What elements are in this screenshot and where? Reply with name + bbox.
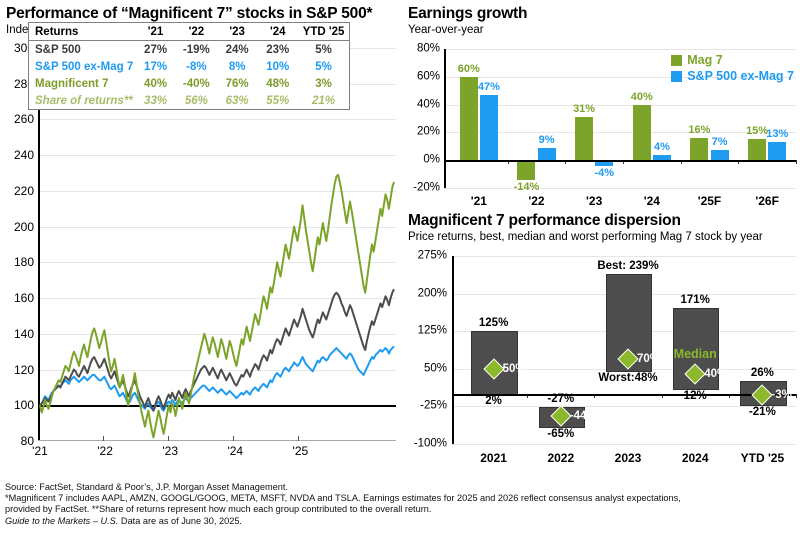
y-axis-tick-label: 140 [14, 328, 34, 340]
earnings-growth-chart: Mag 7S&P 500 ex-Mag 7 -20%0%20%40%60%80%… [444, 49, 796, 188]
line-series-mag7 [40, 175, 394, 438]
bar-value-label: 60% [458, 64, 480, 75]
table-row: Share of returns**33%56%63%55%21% [29, 92, 349, 109]
dispersion-panel: Magnificent 7 performance dispersion Pri… [408, 212, 798, 477]
row-label: S&P 500 [29, 41, 135, 59]
y-axis-tick-label: 260 [14, 113, 34, 125]
gridline [444, 49, 796, 50]
row-label: Share of returns** [29, 92, 135, 109]
x-axis-tick-label: 2022 [547, 452, 574, 464]
footnote-guide: Guide to the Markets – U.S. Data are as … [5, 516, 795, 527]
bar-sp500-ex-mag7 [480, 95, 498, 160]
bar-mag7 [690, 138, 708, 160]
median-value-label: -44% [570, 410, 597, 422]
best-value-label: Best: 239% [597, 260, 658, 272]
y-axis-tick-label: 220 [14, 185, 34, 197]
th-21: '21 [135, 23, 176, 41]
y-axis-tick-label: 240 [14, 149, 34, 161]
y-axis-tick-label: 50% [424, 363, 447, 375]
worst-value-label: -21% [749, 406, 776, 418]
returns-table: Returns '21 '22 '23 '24 YTD '25 S&P 5002… [28, 22, 350, 110]
cell-value: 40% [135, 75, 176, 92]
gridline [452, 444, 796, 445]
y-axis-tick-label: 40% [417, 99, 440, 111]
bar-mag7 [575, 117, 593, 160]
median-value-label: 70% [637, 353, 660, 365]
gridline [444, 188, 796, 189]
x-axis-tick-label: 2023 [615, 452, 642, 464]
x-axis-tick-label: 2021 [480, 452, 507, 464]
x-axis-tick-label: '23 [162, 445, 178, 457]
bar-value-label: -14% [514, 182, 540, 193]
bar-sp500-ex-mag7 [768, 142, 786, 160]
y-axis-tick-label: 100 [14, 399, 34, 411]
x-axis-tick-label: '21 [471, 195, 487, 207]
x-axis-tick-label: '23 [586, 195, 602, 207]
median-value-label: 50% [503, 363, 526, 375]
x-axis-tick-label: '22 [97, 445, 113, 457]
y-axis-tick-label: 0% [423, 154, 440, 166]
earnings-growth-legend: Mag 7S&P 500 ex-Mag 7 [671, 53, 794, 85]
y-axis-tick-label: 60% [417, 71, 440, 83]
returns-table-grid: Returns '21 '22 '23 '24 YTD '25 S&P 5002… [29, 23, 349, 109]
x-axis-tick-label: '24 [227, 445, 243, 457]
y-axis-tick-label: -25% [420, 401, 447, 413]
bar-sp500-ex-mag7 [538, 148, 556, 161]
worst-value-label: 2% [485, 395, 502, 407]
x-axis-tick-label: '24 [644, 195, 660, 207]
x-axis-tick-label: '26F [755, 195, 779, 207]
legend-item: Mag 7 [671, 53, 794, 67]
y-axis-tick-label: -100% [414, 438, 447, 450]
bar-mag7 [460, 77, 478, 160]
earnings-growth-subtitle: Year-over-year [408, 24, 484, 37]
earnings-growth-panel: Earnings growth Year-over-year Mag 7S&P … [408, 5, 798, 205]
x-axis-tick-label: 2024 [682, 452, 709, 464]
y-axis-tick-label: 180 [14, 256, 34, 268]
th-returns: Returns [29, 23, 135, 41]
y-axis-tick-label: -20% [413, 182, 440, 194]
cell-value: 24% [217, 41, 258, 59]
cell-value: 63% [217, 92, 258, 109]
bar-mag7 [633, 105, 651, 161]
legend-swatch-icon [671, 71, 682, 82]
cell-value: 8% [217, 58, 258, 75]
zero-line [444, 160, 796, 162]
bar-value-label: 16% [688, 125, 710, 136]
performance-panel: Performance of “Magnificent 7” stocks in… [6, 5, 398, 475]
worst-value-label: Worst:48% [598, 372, 657, 384]
x-axis-tick-label: '21 [32, 445, 48, 457]
dispersion-subtitle: Price returns, best, median and worst pe… [408, 231, 763, 244]
dispersion-chart: -100%-25%50%125%200%275%125%2%50%2021-27… [452, 256, 796, 444]
th-ytd25: YTD '25 [298, 23, 349, 41]
legend-swatch-icon [671, 55, 682, 66]
footnote-guide-italic: Guide to the Markets – U.S. [5, 516, 118, 526]
table-row: S&P 50027%-19%24%23%5% [29, 41, 349, 59]
footnotes: Source: FactSet, Standard & Poor’s, J.P.… [5, 482, 795, 527]
cell-value: 27% [135, 41, 176, 59]
bar-value-label: 13% [766, 129, 788, 140]
row-label: Magnificent 7 [29, 75, 135, 92]
x-axis-tick-label: '25F [698, 195, 722, 207]
dispersion-title: Magnificent 7 performance dispersion [408, 212, 681, 229]
median-value-label: -3% [771, 389, 791, 401]
bar-mag7 [748, 139, 766, 160]
best-value-label: 26% [751, 367, 774, 379]
x-axis-tick-label: YTD '25 [741, 452, 785, 464]
bar-value-label: -4% [594, 168, 614, 179]
bar-value-label: 47% [478, 82, 500, 93]
cell-value: 10% [257, 58, 298, 75]
y-axis-tick-label: 200% [418, 288, 447, 300]
x-axis-tick [796, 394, 797, 398]
cell-value: 5% [298, 58, 349, 75]
legend-item: S&P 500 ex-Mag 7 [671, 69, 794, 83]
bar-value-label: 40% [631, 92, 653, 103]
bar-value-label: 9% [539, 135, 555, 146]
median-value-label: 40% [704, 368, 727, 380]
earnings-growth-title: Earnings growth [408, 5, 527, 22]
cell-value: 23% [257, 41, 298, 59]
y-axis-tick-label: 160 [14, 292, 34, 304]
x-axis-tick [796, 160, 797, 164]
x-axis-tick-label: '25 [293, 445, 309, 457]
footnote-share: provided by FactSet. **Share of returns … [5, 504, 795, 515]
worst-value-label: -65% [547, 428, 574, 440]
y-axis-tick-label: 125% [418, 325, 447, 337]
cell-value: 17% [135, 58, 176, 75]
x-axis-tick-label: '22 [528, 195, 544, 207]
cell-value: 3% [298, 75, 349, 92]
median-annotation: Median [674, 348, 717, 361]
cell-value: 55% [257, 92, 298, 109]
th-23: '23 [217, 23, 258, 41]
cell-value: 21% [298, 92, 349, 109]
cell-value: 76% [217, 75, 258, 92]
footnote-source: Source: FactSet, Standard & Poor’s, J.P.… [5, 482, 795, 493]
legend-label: S&P 500 ex-Mag 7 [687, 69, 794, 83]
best-value-label: 171% [680, 294, 709, 306]
row-label: S&P 500 ex-Mag 7 [29, 58, 135, 75]
bar-value-label: 7% [712, 137, 728, 148]
bar-value-label: 15% [746, 126, 768, 137]
footnote-guide-rest: Data are as of June 30, 2025. [118, 516, 242, 526]
best-value-label: 125% [479, 317, 508, 329]
table-row: Magnificent 740%-40%76%48%3% [29, 75, 349, 92]
legend-label: Mag 7 [687, 53, 722, 67]
cell-value: 5% [298, 41, 349, 59]
th-22: '22 [176, 23, 217, 41]
table-row: S&P 500 ex-Mag 717%-8%8%10%5% [29, 58, 349, 75]
footnote-mag7: *Magnificent 7 includes AAPL, AMZN, GOOG… [5, 493, 795, 504]
cell-value: -19% [176, 41, 217, 59]
th-24: '24 [257, 23, 298, 41]
cell-value: 48% [257, 75, 298, 92]
cell-value: 33% [135, 92, 176, 109]
chart-page: Performance of “Magnificent 7” stocks in… [0, 0, 800, 533]
y-axis-tick-label: 80% [417, 43, 440, 55]
y-axis-tick-label: 20% [417, 127, 440, 139]
bar-sp500-ex-mag7 [711, 150, 729, 160]
table-header-row: Returns '21 '22 '23 '24 YTD '25 [29, 23, 349, 41]
y-axis-tick-label: 275% [418, 250, 447, 262]
worst-value-label: 12% [684, 390, 707, 402]
bar-value-label: 31% [573, 104, 595, 115]
cell-value: -8% [176, 58, 217, 75]
cell-value: -40% [176, 75, 217, 92]
y-axis-tick-label: 120 [14, 364, 34, 376]
bar-mag7 [517, 160, 535, 179]
gridline [452, 406, 796, 407]
y-axis-line [452, 256, 454, 444]
gridline [452, 256, 796, 257]
bar-value-label: 4% [654, 142, 670, 153]
y-axis-line [444, 49, 446, 188]
y-axis-tick-label: 200 [14, 221, 34, 233]
performance-title: Performance of “Magnificent 7” stocks in… [6, 5, 372, 22]
zero-line [452, 394, 796, 396]
cell-value: 56% [176, 92, 217, 109]
